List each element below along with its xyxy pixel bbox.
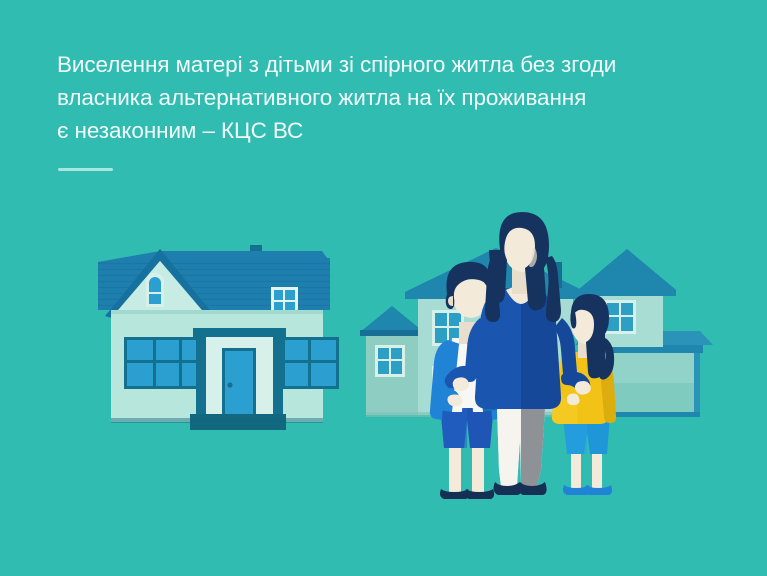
headline-line-3: є незаконним – КЦС ВС xyxy=(57,114,717,147)
gable-window xyxy=(146,273,164,307)
headline-line-1: Виселення матері з дітьми зі спірного жи… xyxy=(57,48,717,81)
news-banner: Виселення матері з дітьми зі спірного жи… xyxy=(0,0,767,576)
headline-divider xyxy=(58,168,113,171)
headline-line-2: власника альтернативного житла на їх про… xyxy=(57,81,717,114)
headline: Виселення матері з дітьми зі спірного жи… xyxy=(57,48,717,147)
main-house xyxy=(98,245,339,430)
main-house-porch xyxy=(190,328,286,430)
